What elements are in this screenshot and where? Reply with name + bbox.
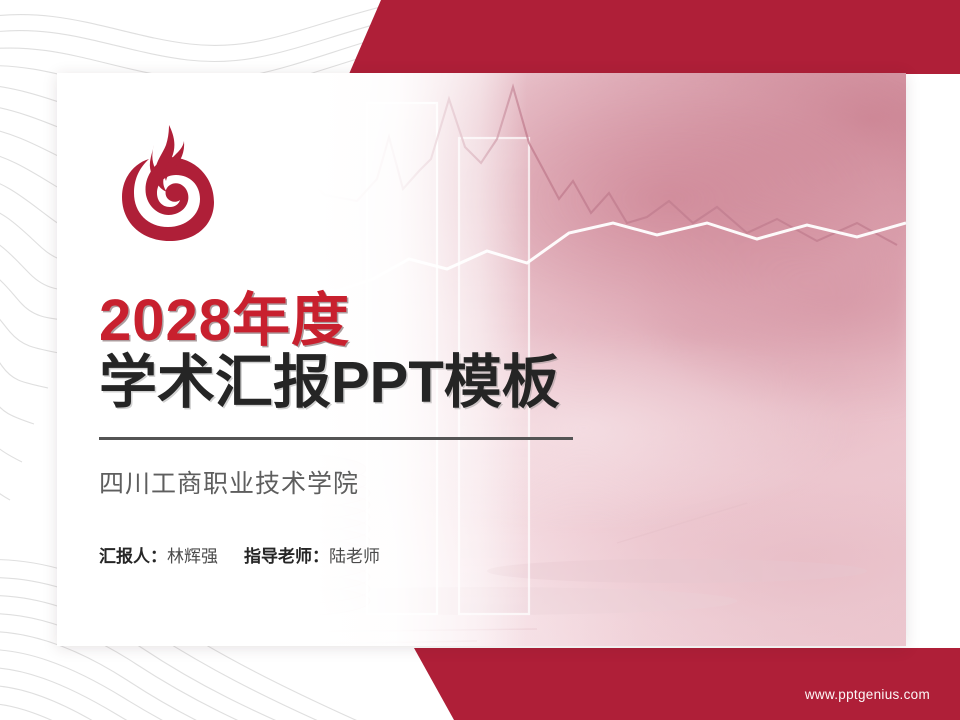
- presenter-name: 林辉强: [167, 547, 218, 566]
- title-year: 2028年度: [99, 291, 659, 350]
- content-card: 2028年度 学术汇报PPT模板 四川工商职业技术学院 汇报人：林辉强指导老师：…: [57, 73, 906, 646]
- title-main: 学术汇报PPT模板: [99, 352, 659, 415]
- presenter-label: 汇报人：: [99, 547, 167, 566]
- site-url[interactable]: www.pptgenius.com: [805, 687, 930, 702]
- people-row: 汇报人：林辉强指导老师：陆老师: [99, 542, 659, 567]
- bottom-red-band: [0, 648, 960, 720]
- title-divider: [99, 437, 573, 440]
- title-text-block: 2028年度 学术汇报PPT模板 四川工商职业技术学院 汇报人：林辉强指导老师：…: [99, 291, 659, 567]
- top-red-band: [0, 0, 960, 74]
- advisor-label: 指导老师：: [244, 547, 329, 566]
- school-name: 四川工商职业技术学院: [99, 464, 659, 500]
- advisor-name: 陆老师: [329, 547, 380, 566]
- title-slide: 2028年度 学术汇报PPT模板 四川工商职业技术学院 汇报人：林辉强指导老师：…: [0, 0, 960, 720]
- flame-spiral-logo: [112, 123, 220, 241]
